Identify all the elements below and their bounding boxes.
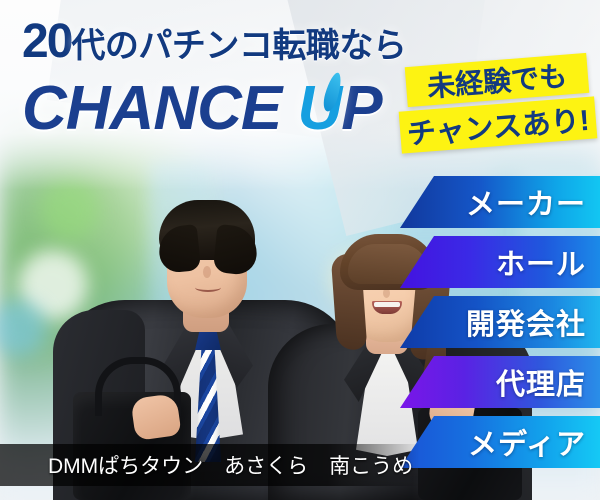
category-label-development-company: 開発会社 — [466, 301, 586, 343]
chance-up-logo: CHANCE UP — [22, 78, 382, 140]
inexperienced-welcome-badge: 未経験でも チャンスあり! — [400, 52, 600, 152]
category-button-development-company[interactable]: 開発会社 — [400, 296, 600, 348]
category-button-maker[interactable]: メーカー — [400, 176, 600, 228]
logo-u-letter: U — [297, 78, 341, 140]
woman-teeth — [374, 302, 400, 307]
category-button-list: メーカー ホール 開発会社 代理店 メディア — [400, 176, 600, 476]
logo-chance-word: CHANCE — [22, 74, 281, 143]
category-label-hall: ホール — [496, 241, 586, 283]
category-label-agency: 代理店 — [496, 361, 586, 403]
man-mouth — [195, 283, 221, 292]
man-nose — [203, 266, 211, 278]
recruitment-banner[interactable]: 20代のパチンコ転職なら CHANCE UP 未経験でも チャンスあり! メーカ… — [0, 0, 600, 500]
caption-text: DMMぱちタウン あさくら 南こうめ — [48, 450, 413, 480]
headline-text: 20代のパチンコ転職なら — [22, 18, 406, 66]
category-button-hall[interactable]: ホール — [400, 236, 600, 288]
category-button-media[interactable]: メディア — [400, 416, 600, 468]
caption-bar: DMMぱちタウン あさくら 南こうめ — [0, 444, 420, 486]
category-button-agency[interactable]: 代理店 — [400, 356, 600, 408]
logo-p-letter: P — [341, 74, 381, 143]
category-label-maker: メーカー — [466, 181, 586, 223]
headline-number: 20 — [22, 15, 71, 68]
category-label-media: メディア — [468, 421, 586, 463]
headline-rest: 代のパチンコ転職なら — [71, 27, 406, 65]
